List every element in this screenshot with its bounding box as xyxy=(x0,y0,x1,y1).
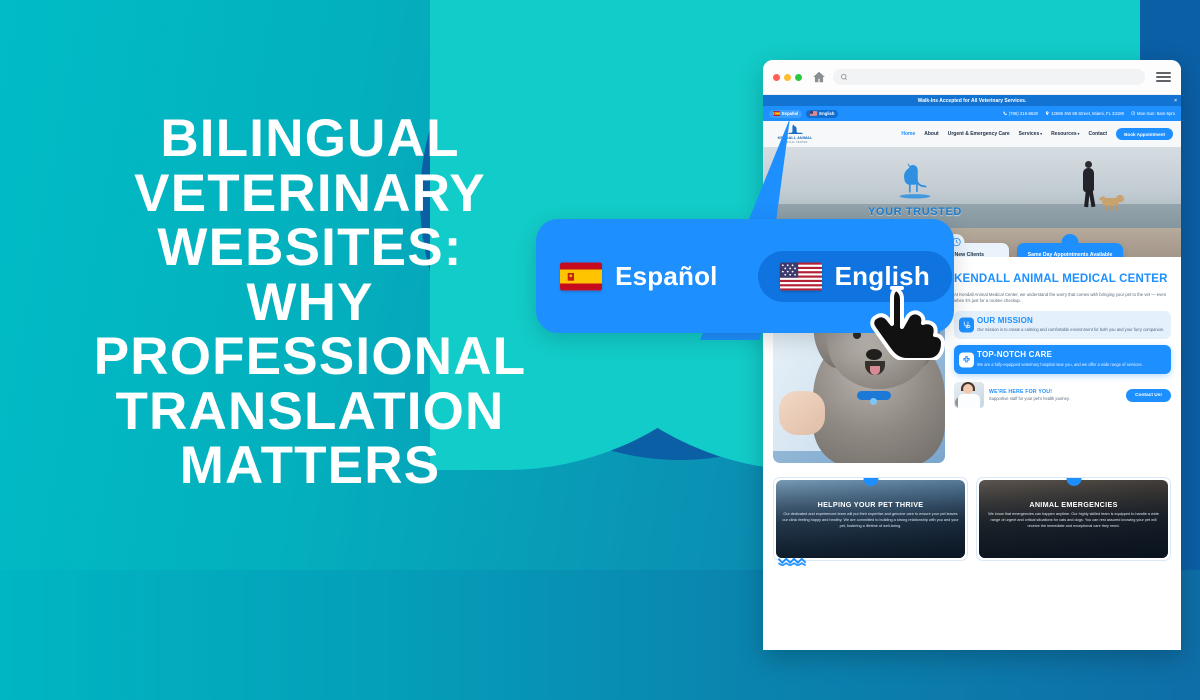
minimize-window-dot[interactable] xyxy=(784,74,791,81)
spain-flag-icon xyxy=(560,262,602,291)
book-appointment-button[interactable]: Book Appointment xyxy=(1116,128,1173,140)
language-option-espanol[interactable]: Español xyxy=(538,251,740,302)
spain-flag-icon xyxy=(773,111,780,116)
announcement-bar: Walk-Ins Accepted for All Veterinary Ser… xyxy=(763,95,1181,106)
announcement-text: Walk-Ins Accepted for All Veterinary Ser… xyxy=(918,98,1027,104)
card-our-mission: OUR MISSION Our mission is to create a c… xyxy=(954,311,1171,340)
nav-item-services-label: Services xyxy=(1019,131,1040,137)
site-nav-links: Home About Urgent & Emergency Care Servi… xyxy=(901,128,1173,140)
clinic-title: KENDALL ANIMAL MEDICAL CENTER xyxy=(954,273,1171,286)
search-icon xyxy=(840,73,848,81)
here-for-you-heading: WE'RE HERE FOR YOU! xyxy=(989,389,1121,395)
bottom-cards-row: HELPING YOUR PET THRIVE Our dedicated an… xyxy=(773,477,1171,561)
poster-canvas: BILINGUAL VETERINARY WEBSITES: WHY PROFE… xyxy=(0,0,1200,700)
headline-line-1: BILINGUAL xyxy=(0,112,620,167)
dog-silhouette-icon xyxy=(893,161,937,203)
hamburger-menu-icon[interactable] xyxy=(1156,72,1171,82)
vet-with-cat-photo xyxy=(954,382,984,408)
nav-item-about[interactable]: About xyxy=(924,131,938,137)
site-lang-english[interactable]: English xyxy=(806,110,838,118)
card-emergencies-body: We know that emergencies can happen anyt… xyxy=(985,512,1162,529)
hero-logo-block: YOUR TRUSTED xyxy=(855,161,975,218)
headline-line-4: WHY xyxy=(0,276,620,331)
site-lang-espanol-label: Español xyxy=(782,111,798,116)
headline-line-3: WEBSITES: xyxy=(0,221,620,276)
headline-line-2: VETERINARY xyxy=(0,167,620,222)
card-top-notch-care-heading: TOP-NOTCH CARE xyxy=(977,351,1165,360)
headline-line-7: MATTERS xyxy=(0,439,620,494)
card-animal-emergencies: ANIMAL EMERGENCIES We know that emergenc… xyxy=(976,477,1171,561)
language-option-espanol-label: Español xyxy=(615,261,718,292)
hours-text: Mon-Sun: 8am-5pm xyxy=(1137,111,1175,116)
here-for-you-text: WE'RE HERE FOR YOU! Supportive staff for… xyxy=(989,389,1121,402)
about-text-column: KENDALL ANIMAL MEDICAL CENTER At Kendall… xyxy=(954,273,1171,463)
nav-item-resources[interactable]: Resources▾ xyxy=(1051,131,1079,137)
card-emergencies-text: ANIMAL EMERGENCIES We know that emergenc… xyxy=(985,500,1162,529)
chevron-down-icon: ▾ xyxy=(1040,132,1042,136)
site-logo[interactable]: KENDALL ANIMAL MEDICAL CENTER xyxy=(771,124,819,144)
address-bar[interactable] xyxy=(833,69,1145,85)
hero-dog-photo xyxy=(1099,195,1125,211)
badge-same-day-appointments-text: Same Day Appointments Available xyxy=(1024,252,1116,258)
card-our-mission-body: Our mission is to create a calming and c… xyxy=(977,327,1165,333)
card-top-notch-care: TOP-NOTCH CARE We are a fully-equipped v… xyxy=(954,345,1171,374)
maximize-window-dot[interactable] xyxy=(795,74,802,81)
dog-silhouette-icon xyxy=(785,124,805,135)
browser-chrome xyxy=(763,60,1181,95)
card-helping-your-pet-thrive: HELPING YOUR PET THRIVE Our dedicated an… xyxy=(773,477,968,561)
phone-item[interactable]: (786) 215-8630 xyxy=(1003,111,1038,116)
hero-person-photo xyxy=(1081,161,1097,207)
poster-headline: BILINGUAL VETERINARY WEBSITES: WHY PROFE… xyxy=(0,112,620,494)
hero-title: YOUR TRUSTED xyxy=(855,206,975,218)
here-for-you-block: WE'RE HERE FOR YOU! Supportive staff for… xyxy=(954,382,1171,408)
close-icon[interactable]: × xyxy=(1174,98,1177,104)
contact-us-button[interactable]: Contact Us! xyxy=(1126,389,1171,402)
site-lang-espanol[interactable]: Español xyxy=(769,110,802,118)
site-lang-english-label: English xyxy=(819,111,834,116)
nav-item-contact[interactable]: Contact xyxy=(1088,131,1107,137)
chevron-down-icon: ▾ xyxy=(1078,132,1080,136)
here-for-you-body: Supportive staff for your pet's health j… xyxy=(989,396,1121,402)
calendar-camera-icon xyxy=(1062,234,1079,251)
site-language-switcher: Español English xyxy=(769,110,838,118)
card-top-notch-care-body: We are a fully-equipped veterinary hospi… xyxy=(977,362,1165,368)
traffic-lights xyxy=(773,74,802,81)
contact-topbar: Español English (786) 215-8630 12596 SW … xyxy=(763,106,1181,121)
usa-flag-icon xyxy=(810,111,817,116)
card-helping-heading: HELPING YOUR PET THRIVE xyxy=(782,500,959,509)
card-helping-text: HELPING YOUR PET THRIVE Our dedicated an… xyxy=(782,500,959,529)
close-window-dot[interactable] xyxy=(773,74,780,81)
usa-flag-icon xyxy=(780,262,822,291)
badge-same-day-appointments: Same Day Appointments Available xyxy=(1017,243,1123,258)
site-logo-name: KENDALL ANIMAL xyxy=(778,136,813,140)
headline-line-6: TRANSLATION xyxy=(0,385,620,440)
card-helping-body: Our dedicated and experienced team will … xyxy=(782,512,959,529)
browser-mockup: Walk-Ins Accepted for All Veterinary Ser… xyxy=(763,60,1181,650)
phone-icon xyxy=(1003,111,1008,116)
site-logo-sub: MEDICAL CENTER xyxy=(782,141,807,144)
headline-line-5: PROFESSIONAL xyxy=(0,330,620,385)
site-navbar: KENDALL ANIMAL MEDICAL CENTER Home About… xyxy=(763,121,1181,147)
nav-item-home[interactable]: Home xyxy=(901,131,915,137)
card-our-mission-heading: OUR MISSION xyxy=(977,317,1165,326)
pointing-hand-cursor-icon xyxy=(866,286,962,360)
nav-item-services[interactable]: Services▾ xyxy=(1019,131,1042,137)
nav-item-resources-label: Resources xyxy=(1051,131,1077,137)
phone-number: (786) 215-8630 xyxy=(1009,111,1038,116)
wave-decoration-icon xyxy=(777,556,811,566)
clock-icon xyxy=(1131,111,1136,116)
location-pin-icon xyxy=(1045,111,1050,116)
card-emergencies-heading: ANIMAL EMERGENCIES xyxy=(985,500,1162,509)
hours-item: Mon-Sun: 8am-5pm xyxy=(1131,111,1175,116)
nav-item-urgent-emergency-care[interactable]: Urgent & Emergency Care xyxy=(948,131,1010,137)
address-item[interactable]: 12596 SW 88 Street, Miami, FL 33186 xyxy=(1045,111,1124,116)
address-text: 12596 SW 88 Street, Miami, FL 33186 xyxy=(1051,111,1124,116)
clinic-description: At Kendall Animal Medical Center, we und… xyxy=(954,292,1171,305)
home-icon[interactable] xyxy=(812,70,826,84)
contact-info: (786) 215-8630 12596 SW 88 Street, Miami… xyxy=(1003,111,1175,116)
